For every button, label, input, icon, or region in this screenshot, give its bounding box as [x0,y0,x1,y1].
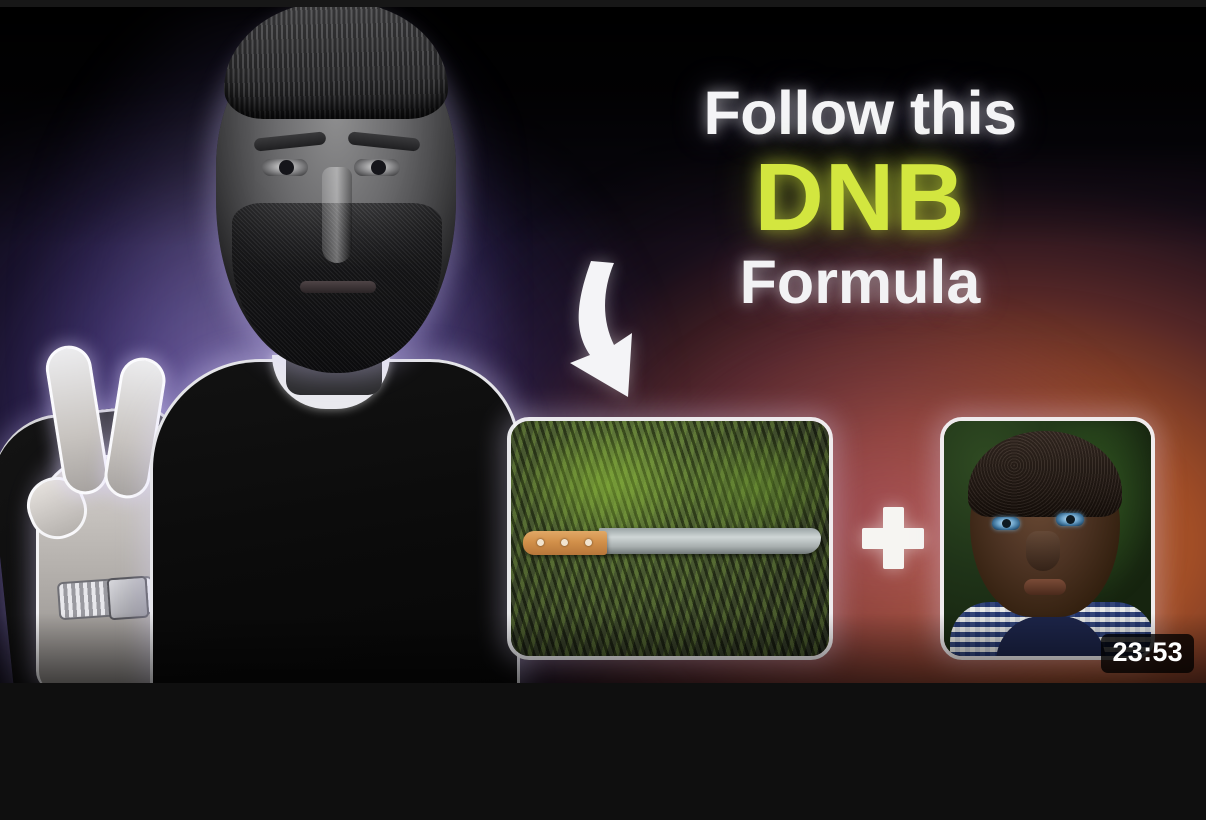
headline-line-1: Follow this [640,83,1080,144]
headline-line-2: DNB [640,150,1080,246]
video-duration-badge: 23:53 [1101,634,1194,673]
video-thumbnail[interactable]: Follow this DNB Formula [0,7,1206,683]
machete-rivet [537,539,544,546]
video-info-row: The most simple way to create DNB for a … [0,683,1206,820]
machete-rivet [561,539,568,546]
boy-pupil-left [1002,519,1011,528]
gigachad-figure [0,7,520,683]
plus-icon [862,507,924,569]
machete-rivet [585,539,592,546]
thumbnail-headline: Follow this DNB Formula [640,83,1080,313]
figure-nose [322,167,352,263]
plus-bar-vertical [883,507,904,569]
curved-arrow-icon [528,259,678,399]
boy-pupil-right [1066,515,1075,524]
moss-patch-right [671,431,833,541]
boy-nose [1026,531,1060,571]
headline-line-3: Formula [640,252,1080,313]
bottom-vignette [0,613,1206,683]
machete-blade [599,528,821,554]
top-strip [0,0,1206,7]
moss-patch-left [517,425,697,545]
figure-mouth [300,281,376,293]
figure-pupil-left [279,160,294,175]
youtube-video-card: Follow this DNB Formula [0,0,1206,820]
boy-mouth [1024,579,1066,595]
figure-pupil-right [371,160,386,175]
